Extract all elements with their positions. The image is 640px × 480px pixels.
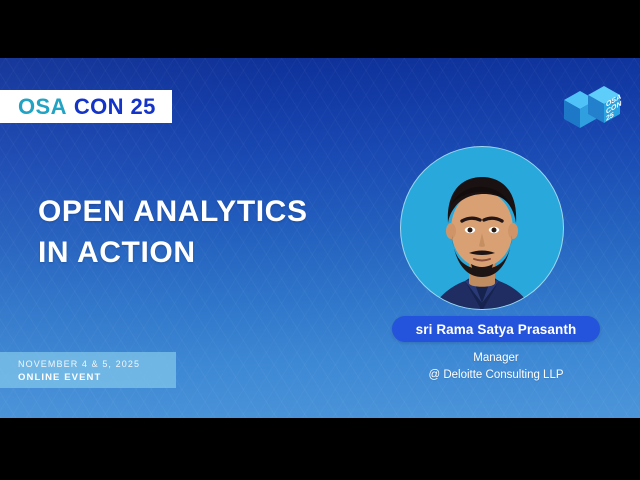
speaker-role: Manager — [370, 350, 622, 367]
headline-line-2: IN ACTION — [38, 232, 308, 273]
page-title: OPEN ANALYTICS IN ACTION — [38, 191, 308, 274]
letterbox-bottom — [0, 418, 640, 480]
isometric-cube-logo: OSA CON 25 — [560, 80, 622, 138]
speaker-photo-circle — [400, 146, 564, 310]
conference-brand-text: OSA — [18, 96, 67, 118]
event-date-badge: NOVEMBER 4 & 5, 2025 ONLINE EVENT — [0, 352, 176, 388]
video-player-frame: OSA CON 25 OSA CON — [0, 0, 640, 480]
speaker-name-pill: sri Rama Satya Prasanth — [392, 316, 600, 342]
presentation-slide: OSA CON 25 OSA CON — [0, 58, 640, 418]
event-dates: NOVEMBER 4 & 5, 2025 — [18, 358, 176, 371]
speaker-organization: @ Deloitte Consulting LLP — [370, 367, 622, 384]
headline-line-1: OPEN ANALYTICS — [38, 191, 308, 232]
speaker-name: sri Rama Satya Prasanth — [416, 322, 577, 337]
conference-edition-text: CON 25 — [74, 96, 156, 118]
speaker-block: sri Rama Satya Prasanth Manager @ Deloit… — [330, 118, 630, 418]
letterbox-top — [0, 0, 640, 58]
conference-badge: OSA CON 25 — [0, 90, 172, 123]
speaker-portrait — [407, 161, 557, 310]
event-format: ONLINE EVENT — [18, 371, 176, 385]
